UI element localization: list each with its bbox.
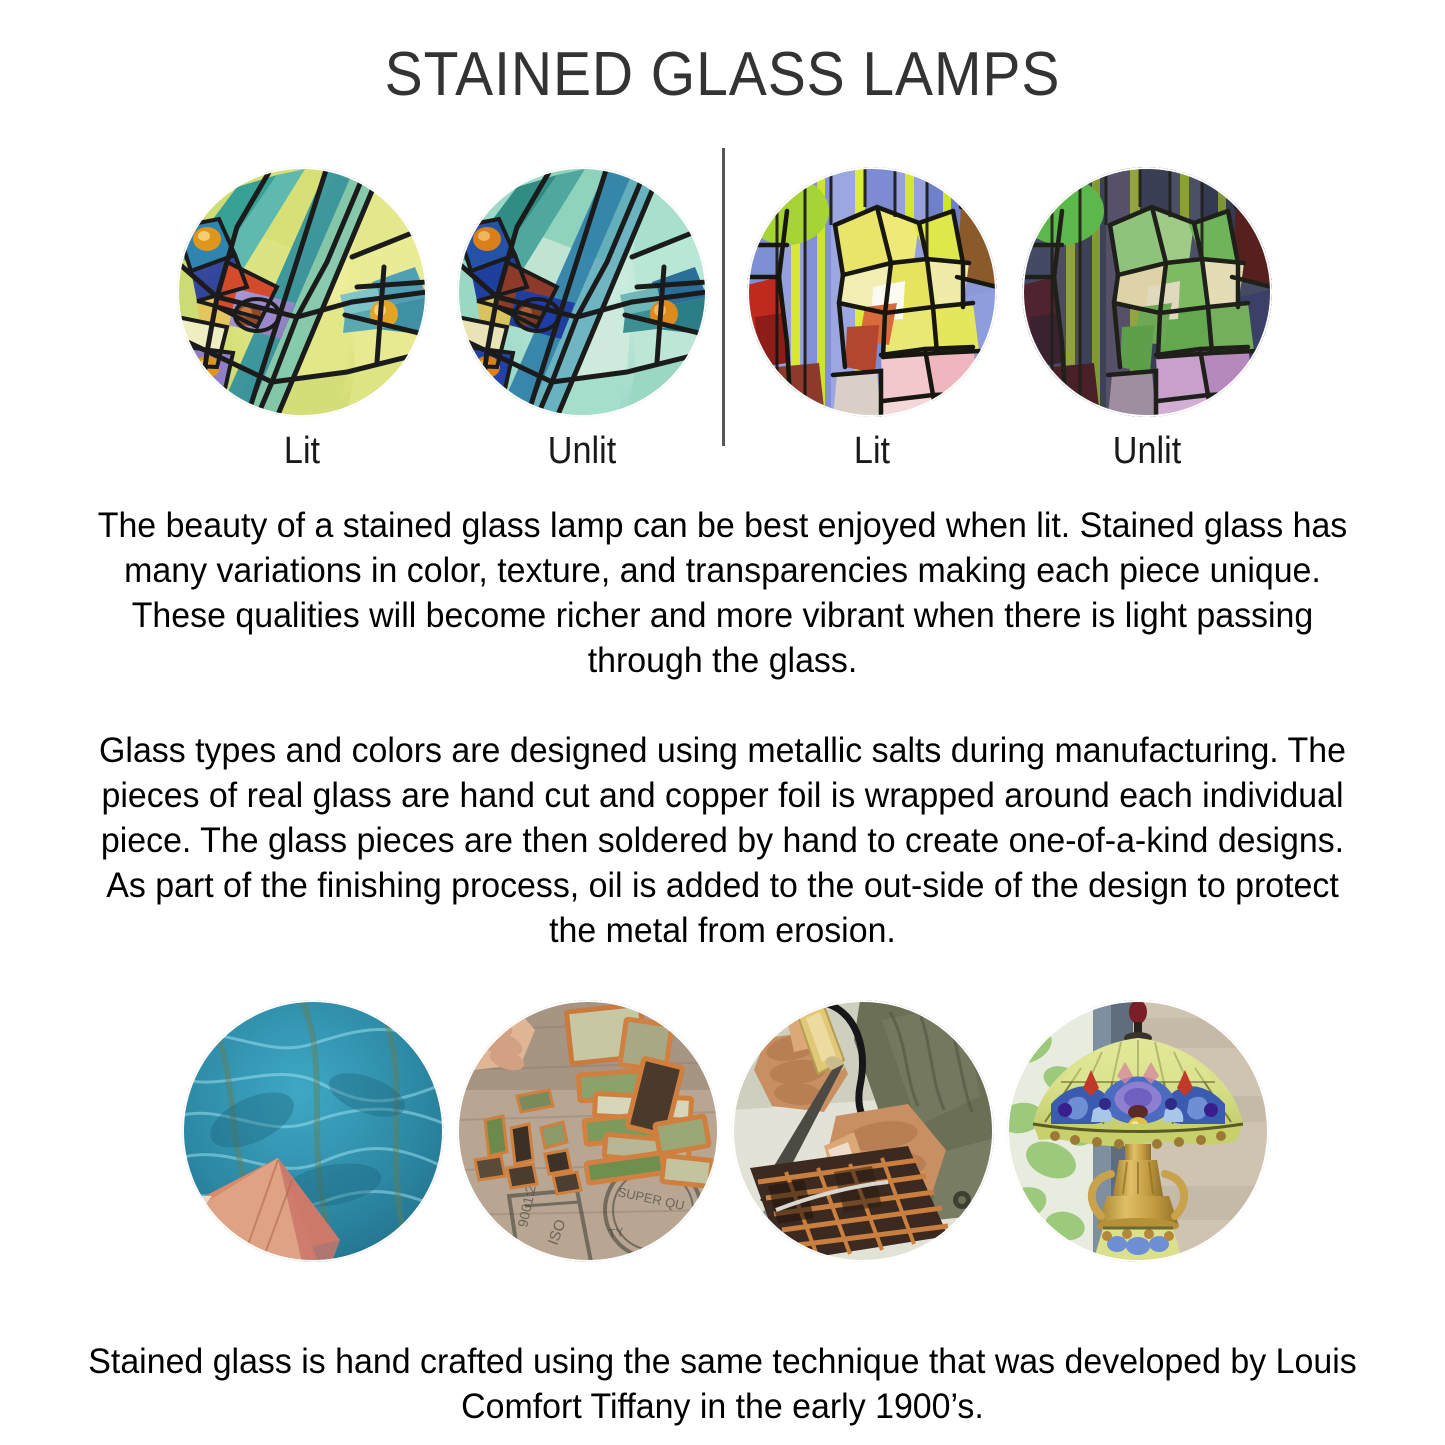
stained-glass-sample-geometric-unlit — [457, 167, 707, 417]
infographic-page: STAINED GLASS LAMPS — [0, 0, 1445, 1445]
svg-text:TY: TY — [607, 1225, 624, 1241]
heritage-paragraph: Stained glass is hand crafted using the … — [80, 1339, 1364, 1429]
lit-unlit-comparison: Lit — [0, 167, 1445, 477]
comparison-item-2: Unlit — [457, 167, 707, 473]
finished-lamp-image — [1007, 1000, 1269, 1262]
state-label: Lit — [760, 431, 985, 473]
process-photo-hand-soldering — [732, 1000, 994, 1262]
raw-glass-sheets-image — [182, 1000, 444, 1262]
comparison-item-4: Unlit — [1022, 167, 1272, 473]
stained-glass-sample-geometric-lit — [177, 167, 427, 417]
comparison-item-3: Lit — [747, 167, 997, 473]
intro-paragraph: The beauty of a stained glass lamp can b… — [80, 503, 1364, 683]
stained-glass-sample-floral-lit — [747, 167, 997, 417]
hand-soldering-image — [732, 1000, 994, 1262]
page-title: STAINED GLASS LAMPS — [58, 42, 1387, 107]
process-photo-copper-foil-pieces: SUPER QU TY 9001:20 ISO — [457, 1000, 719, 1262]
process-paragraph: Glass types and colors are designed usin… — [80, 728, 1364, 953]
state-label: Unlit — [1035, 431, 1260, 473]
copper-foil-pieces-image: SUPER QU TY 9001:20 ISO — [457, 1000, 719, 1262]
state-label: Unlit — [470, 431, 695, 473]
comparison-item-1: Lit — [177, 167, 427, 473]
state-label: Lit — [190, 431, 415, 473]
group-divider — [722, 148, 725, 446]
process-photo-raw-glass-sheets — [182, 1000, 444, 1262]
stained-glass-sample-floral-unlit — [1022, 167, 1272, 417]
process-photo-row: SUPER QU TY 9001:20 ISO — [0, 1000, 1445, 1265]
process-photo-finished-lamp — [1007, 1000, 1269, 1262]
